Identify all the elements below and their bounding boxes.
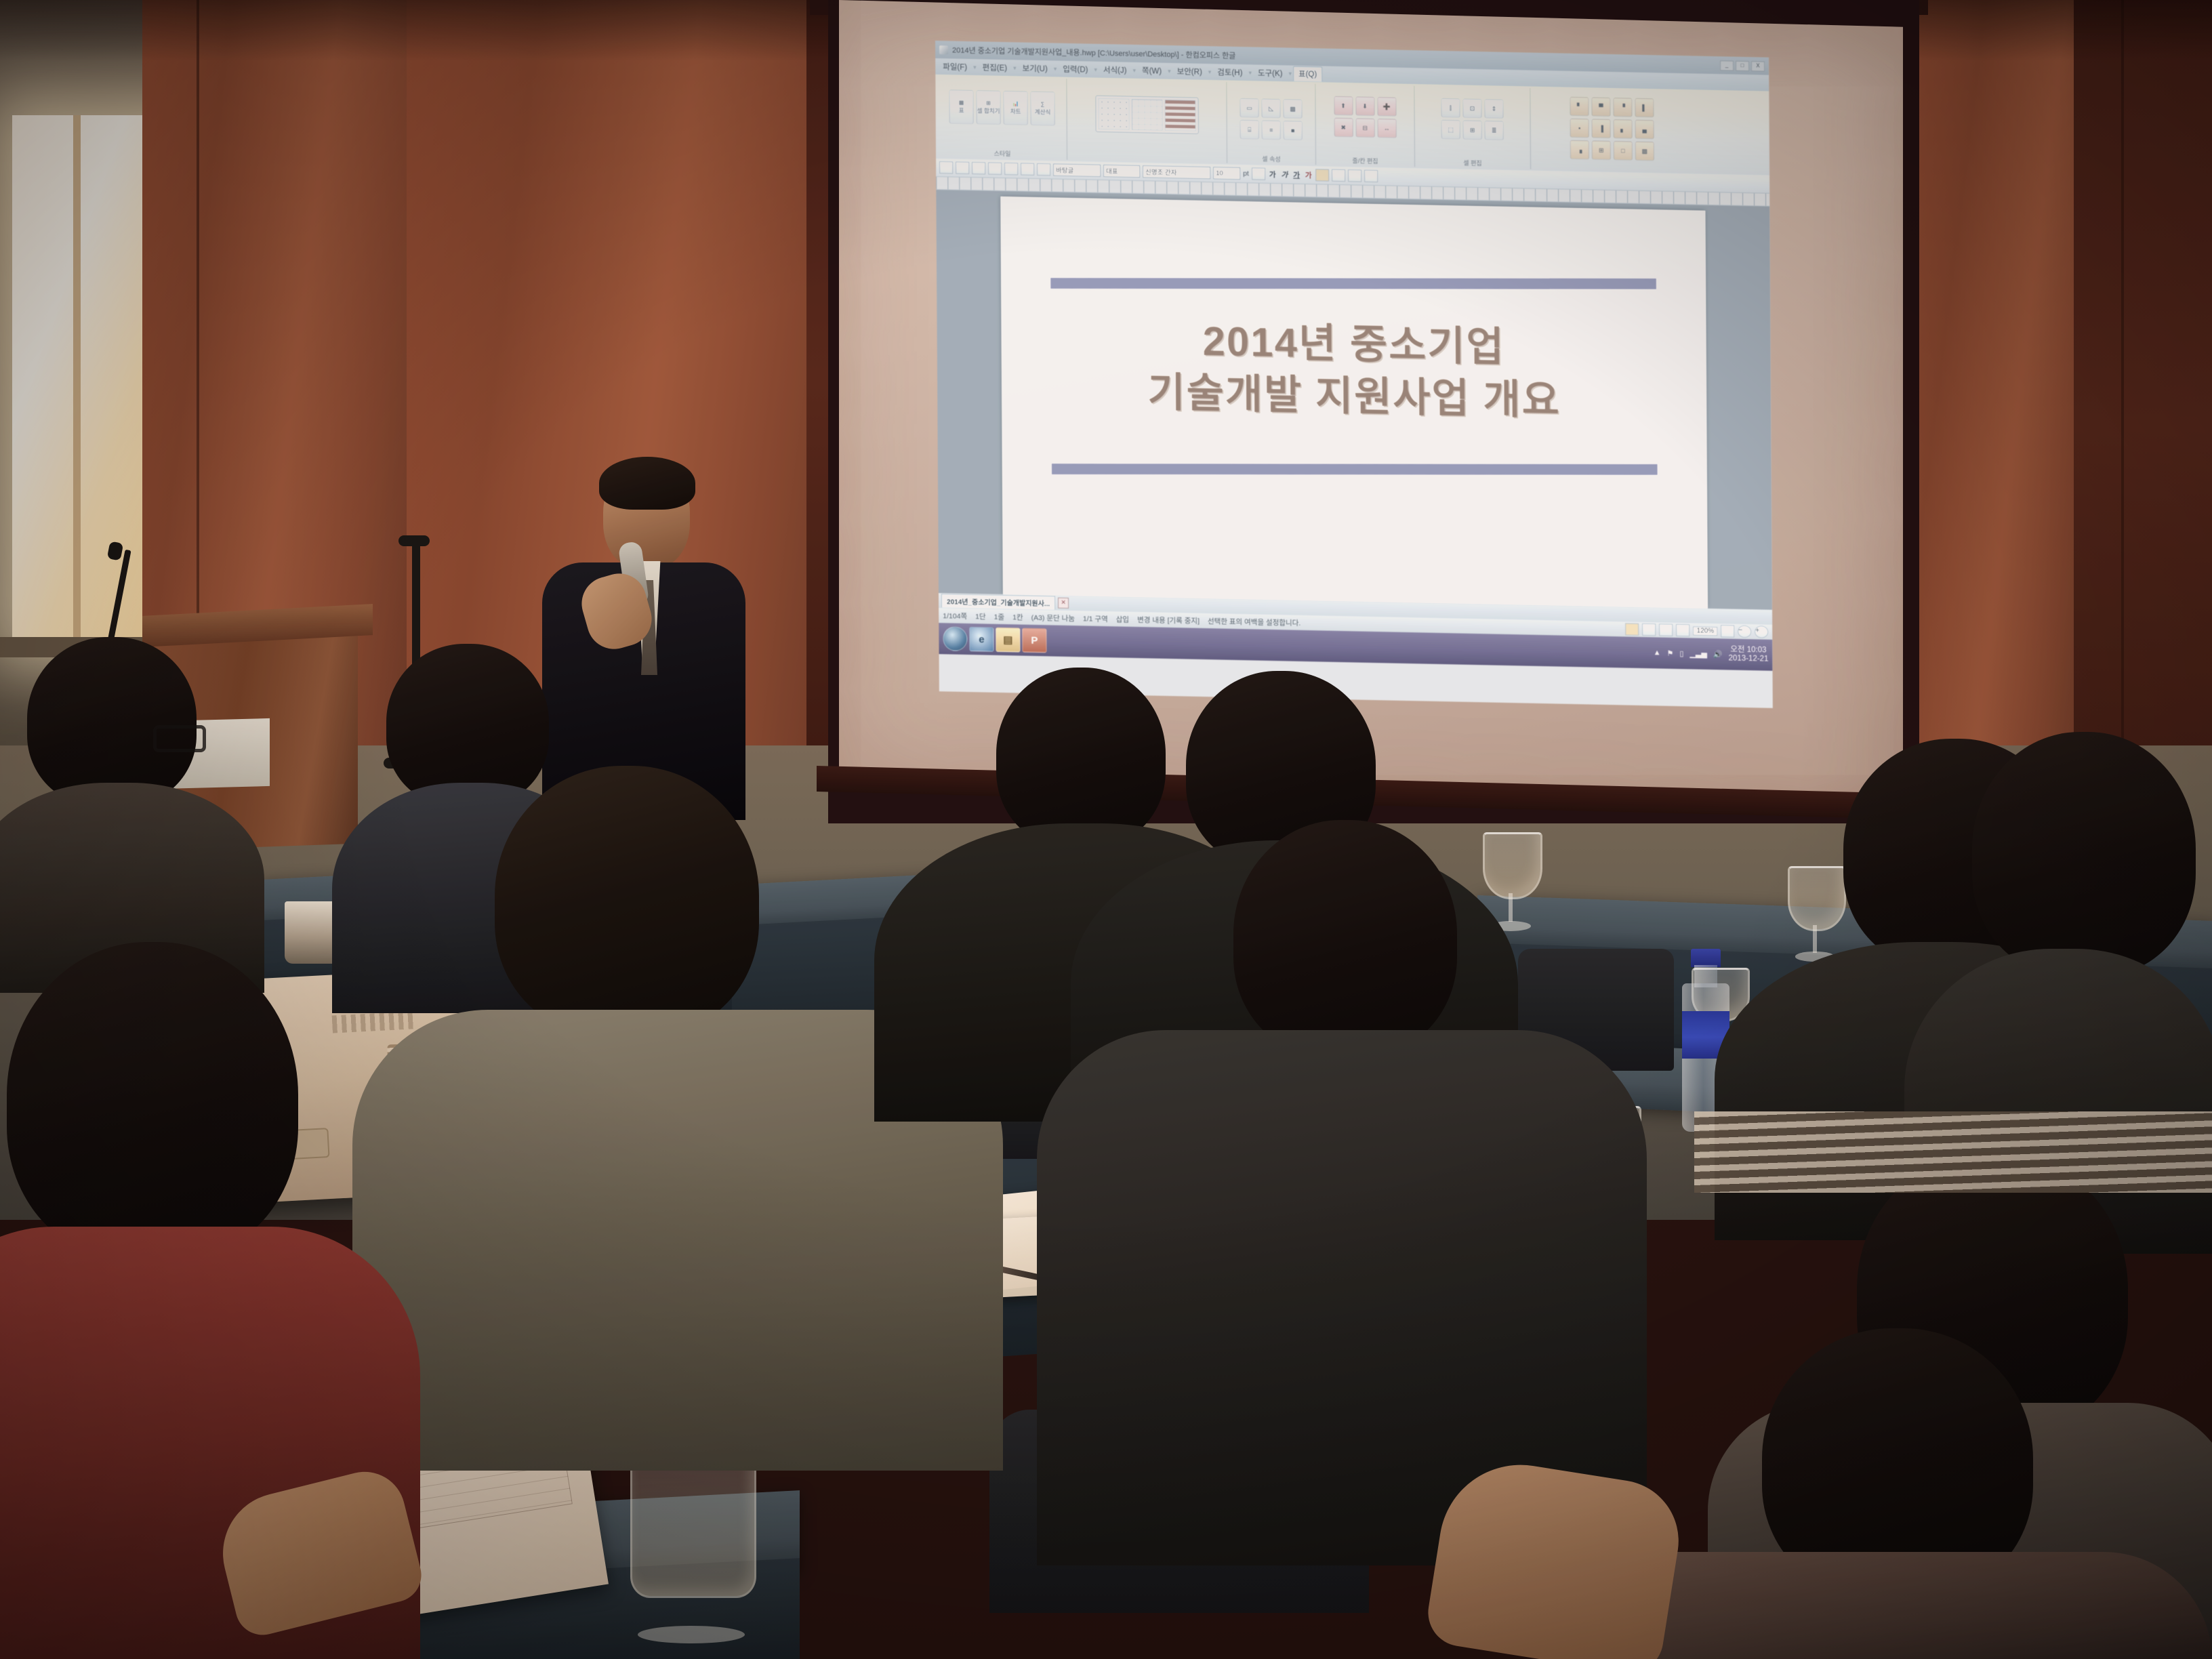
align-bottom-center-icon[interactable]: ▄ xyxy=(1635,120,1654,140)
clock-time: 오전 10:03 xyxy=(1728,645,1768,655)
document-tab[interactable]: 2014년_중소기업_기술개발지원사... xyxy=(941,594,1055,609)
table-style-gallery[interactable] xyxy=(1095,96,1198,134)
formula-icon[interactable]: ∑ 계산식 xyxy=(1030,91,1054,126)
presenter-hair xyxy=(599,457,695,510)
taskbar-clock[interactable]: 오전 10:03 2013-12-21 xyxy=(1728,645,1768,664)
open-document-icon[interactable] xyxy=(956,162,969,174)
usb-device-icon[interactable]: ▯ xyxy=(1679,649,1683,658)
align-left-icon[interactable] xyxy=(1332,169,1346,182)
menu-item-insert[interactable]: 입력(D) xyxy=(1058,62,1092,77)
document-page[interactable]: 2014년 중소기업 기술개발 지원사업 개요 xyxy=(1000,197,1708,609)
redo-icon[interactable] xyxy=(1037,163,1050,176)
volume-icon[interactable]: 🔊 xyxy=(1713,650,1723,659)
menu-item-edit[interactable]: 편집(E) xyxy=(978,60,1012,75)
menu-separator: ▾ xyxy=(1094,66,1097,73)
align-top-left-icon[interactable]: ▘ xyxy=(1570,97,1589,117)
border-style-icon[interactable]: ⌸ xyxy=(1240,120,1259,140)
line-width-icon[interactable]: ≡ xyxy=(1262,121,1281,140)
italic-button[interactable]: 가 xyxy=(1280,169,1290,180)
status-hint: 선택한 표의 여백을 설정합니다. xyxy=(1208,616,1300,628)
hangul-word-processor-window[interactable]: 2014년 중소기업 기술개발지원사업_내용.hwp [C:\Users\use… xyxy=(935,41,1773,708)
insert-row-below-icon[interactable]: ⬇ xyxy=(1355,96,1374,116)
view-facing-pages-icon[interactable] xyxy=(1643,623,1656,636)
align-middle-right-icon[interactable]: ▐ xyxy=(1592,119,1611,138)
align-center-icon[interactable] xyxy=(1349,169,1362,182)
split-table-icon[interactable]: ⊞ xyxy=(1463,121,1482,140)
ribbon-label: 차트 xyxy=(1010,107,1021,115)
split-cell-icon[interactable]: ⫿ xyxy=(1441,98,1460,118)
menu-item-view[interactable]: 보기(U) xyxy=(1018,61,1052,75)
delete-row-icon[interactable]: ✖ xyxy=(1334,118,1353,138)
text-color-button[interactable]: 가 xyxy=(1304,169,1313,180)
print-icon[interactable] xyxy=(988,163,1002,175)
mic-stand-clip xyxy=(398,535,430,546)
menu-separator: ▾ xyxy=(1132,66,1136,74)
view-single-page-icon[interactable] xyxy=(1626,623,1639,635)
highlight-color-icon[interactable] xyxy=(1316,169,1330,181)
clock-date: 2013-12-21 xyxy=(1729,655,1769,664)
menu-separator: ▾ xyxy=(1248,69,1252,77)
status-area: 1/1 구역 xyxy=(1083,613,1108,624)
cell-border-all-icon[interactable]: ⊞ xyxy=(1592,140,1611,160)
maximize-button[interactable]: □ xyxy=(1736,60,1749,70)
attendee-back-left-1 xyxy=(0,637,244,989)
font-size-unit: pt xyxy=(1243,169,1249,178)
menu-item-security[interactable]: 보안(R) xyxy=(1172,64,1207,79)
fill-color-icon[interactable]: ■ xyxy=(1284,121,1303,140)
menu-separator: ▾ xyxy=(1054,65,1057,73)
status-column: 1칸 xyxy=(1012,612,1023,622)
table-icon[interactable]: ▦ 표 xyxy=(949,89,973,124)
merge-cell-icon[interactable]: ⊡ xyxy=(1462,99,1481,119)
font-size-select[interactable]: 10 xyxy=(1213,167,1240,180)
seminar-room-photo: 2014년 중소기업 기술개발지원사업_내용.hwp [C:\Users\use… xyxy=(0,0,2212,1659)
ribbon-group-cell-property: ▭ ◺ ▩ ⌸ ≡ ■ 셀 속성 xyxy=(1227,82,1316,165)
cell-align-icon[interactable]: ≣ xyxy=(1485,121,1504,140)
status-insert-mode: 삽입 xyxy=(1116,614,1129,624)
status-page: 1/104쪽 xyxy=(943,611,967,621)
resize-cell-icon[interactable]: ↔ xyxy=(1377,119,1396,138)
ribbon-label: 계산식 xyxy=(1035,108,1051,116)
tab-close-icon[interactable]: ✕ xyxy=(1058,598,1069,609)
border-icon[interactable]: ▭ xyxy=(1240,98,1258,118)
powerpoint-icon[interactable]: P xyxy=(1022,628,1046,653)
delete-column-icon[interactable]: ⊟ xyxy=(1355,118,1374,138)
internet-explorer-icon[interactable]: e xyxy=(969,627,994,652)
insert-column-icon[interactable]: ➕ xyxy=(1377,97,1396,117)
menu-item-tools[interactable]: 도구(K) xyxy=(1253,66,1288,80)
zoom-search-icon[interactable] xyxy=(1677,624,1690,636)
align-middle-left-icon[interactable]: ▌ xyxy=(1635,98,1654,118)
align-bottom-right-icon[interactable]: ▗ xyxy=(1570,140,1589,160)
menu-separator: ▾ xyxy=(1013,64,1017,72)
font-family-select[interactable]: 신명조 간자 xyxy=(1143,165,1210,179)
ribbon-group-row-col: ⬆ ⬇ ➕ ✖ ⊟ ↔ 줄/칸 편집 xyxy=(1315,83,1415,167)
table-style-grid[interactable] xyxy=(1131,99,1162,131)
insert-row-above-icon[interactable]: ⬆ xyxy=(1334,96,1353,116)
network-flag-icon[interactable]: ⚑ xyxy=(1666,649,1673,657)
ribbon[interactable]: ▦ 표 ⊞ 셀 합치기 📊 차트 ∑ 계산식 스타일 xyxy=(935,75,1769,176)
ribbon-group-style: ▦ 표 ⊞ 셀 합치기 📊 차트 ∑ 계산식 스타일 xyxy=(937,76,1067,160)
align-top-center-icon[interactable]: ▀ xyxy=(1591,97,1610,117)
ribbon-group-label: 줄/칸 편집 xyxy=(1316,155,1414,166)
align-right-icon[interactable] xyxy=(1365,170,1378,182)
window-title: 2014년 중소기업 기술개발지원사업_내용.hwp [C:\Users\use… xyxy=(952,45,1235,61)
app-icon xyxy=(939,45,948,54)
undo-icon[interactable] xyxy=(1021,163,1034,176)
minimize-button[interactable]: _ xyxy=(1720,60,1734,70)
close-button[interactable]: X xyxy=(1751,61,1765,71)
vertical-text-icon[interactable]: ⇕ xyxy=(1484,99,1503,119)
menu-item-review[interactable]: 검토(H) xyxy=(1212,65,1247,79)
align-bottom-left-icon[interactable]: ▖ xyxy=(1614,119,1633,139)
status-paper: (A3) 문단 나눔 xyxy=(1031,612,1075,623)
windows-explorer-icon[interactable]: ▤ xyxy=(996,628,1020,653)
menu-item-page[interactable]: 쪽(W) xyxy=(1137,64,1166,78)
preview-icon[interactable] xyxy=(1004,163,1018,175)
menu-separator: ▾ xyxy=(973,64,977,71)
title-rule-bottom xyxy=(1052,464,1658,475)
eyeglasses xyxy=(153,725,206,752)
zoom-dropdown-icon[interactable] xyxy=(1721,625,1734,637)
align-middle-center-icon[interactable]: ▪ xyxy=(1570,119,1589,138)
ribbon-group-cell-edit: ⫿ ⊡ ⇕ ⬚ ⊞ ≣ 셀 편집 xyxy=(1414,85,1531,169)
diagonal-icon[interactable]: ◺ xyxy=(1261,99,1280,119)
zoom-out-button[interactable]: − xyxy=(1738,626,1751,638)
menu-separator: ▾ xyxy=(1168,67,1171,75)
title-rule-top xyxy=(1050,278,1656,289)
align-top-right-icon[interactable]: ▝ xyxy=(1613,98,1632,117)
bold-button[interactable]: 가 xyxy=(1268,169,1277,179)
status-track-changes: 변경 내용 [기록 중지] xyxy=(1137,614,1200,626)
menu-item-table[interactable]: 표(Q) xyxy=(1293,66,1322,82)
cell-border-none-icon[interactable]: □ xyxy=(1614,141,1633,161)
ribbon-group-label: 셀 속성 xyxy=(1227,154,1315,165)
table-style-banded[interactable] xyxy=(1164,100,1195,131)
document-canvas[interactable]: 2014년 중소기업 기술개발 지원사업 개요 xyxy=(936,190,1772,610)
merge-cells-icon[interactable]: ⊞ 셀 합치기 xyxy=(976,90,1000,125)
shading-icon[interactable]: ▩ xyxy=(1283,99,1302,119)
save-document-icon[interactable] xyxy=(972,162,985,174)
font-group-select[interactable]: 대표 xyxy=(1103,165,1140,178)
underline-button[interactable]: 가 xyxy=(1292,169,1301,180)
status-line: 1줄 xyxy=(994,611,1005,621)
ribbon-label: 표 xyxy=(959,106,964,115)
menu-item-format[interactable]: 서식(J) xyxy=(1099,63,1132,77)
chart-icon[interactable]: 📊 차트 xyxy=(1003,91,1027,125)
system-tray[interactable]: ▲ ⚑ ▯ ▁▃▅ 🔊 오전 10:03 2013-12-21 xyxy=(1654,644,1769,664)
ribbon-group-align: ▘ ▀ ▝ ▌ ▪ ▐ ▖ ▄ ▗ ⊞ □ ▩ xyxy=(1530,88,1694,173)
start-button-icon[interactable] xyxy=(943,626,967,651)
water-glass-front xyxy=(630,1464,752,1640)
ribbon-label: 셀 합치기 xyxy=(977,106,1000,115)
ribbon-group-label: 스타일 xyxy=(938,148,1067,159)
menu-separator: ▾ xyxy=(1288,70,1292,77)
zoom-in-button[interactable]: + xyxy=(1755,626,1768,638)
status-section-col: 1단 xyxy=(975,611,986,621)
slide-title: 2014년 중소기업 기술개발 지원사업 개요 xyxy=(1001,312,1706,430)
menu-item-file[interactable]: 파일(F) xyxy=(938,60,972,74)
table-style-plain[interactable] xyxy=(1098,98,1129,130)
menu-separator: ▾ xyxy=(1208,68,1212,76)
show-hidden-icons-icon[interactable]: ▲ xyxy=(1654,649,1661,657)
cell-margin-icon[interactable]: ⬚ xyxy=(1441,120,1460,140)
ribbon-group-table-gallery xyxy=(1067,79,1227,163)
ribbon-group-label: 셀 편집 xyxy=(1415,157,1530,168)
cell-fill-icon[interactable]: ▩ xyxy=(1635,142,1654,161)
zoom-level[interactable]: 120% xyxy=(1694,626,1718,636)
view-fit-width-icon[interactable] xyxy=(1660,623,1673,636)
font-size-stepper[interactable] xyxy=(1252,167,1265,180)
striped-shirt xyxy=(1694,1111,2212,1193)
paragraph-style-select[interactable]: 바탕글 xyxy=(1053,163,1101,176)
new-document-icon[interactable] xyxy=(939,161,953,173)
signal-icon[interactable]: ▁▃▅ xyxy=(1689,649,1706,659)
